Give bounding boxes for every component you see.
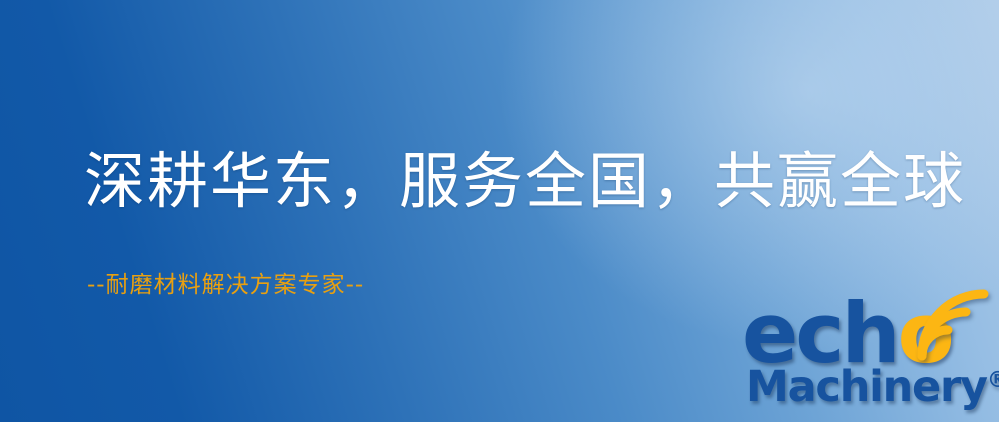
banner-headline: 深耕华东，服务全国，共赢全球 [84,148,966,216]
registered-trademark-icon: ® [987,368,999,393]
logo-machinery-text: Machinery® [746,366,999,409]
company-logo[interactable]: echo Machinery® [742,292,994,418]
logo-machinery-label: Machinery [746,362,987,412]
hero-banner: 深耕华东，服务全国，共赢全球 --耐磨材料解决方案专家-- echo Machi… [0,0,999,422]
signal-waves-icon [908,286,994,370]
banner-subtitle: --耐磨材料解决方案专家-- [87,265,364,299]
